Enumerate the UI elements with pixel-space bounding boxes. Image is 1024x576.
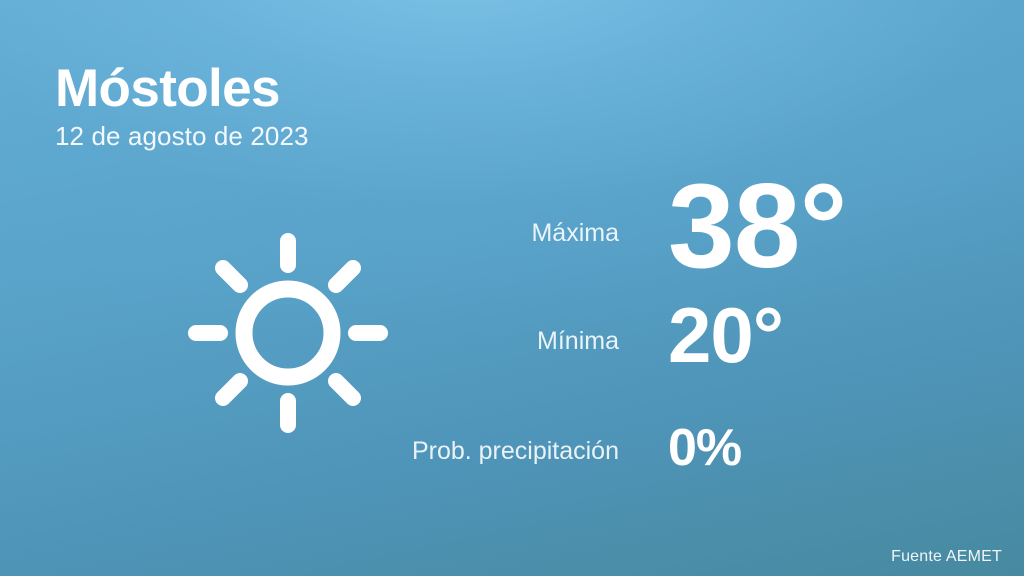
forecast-row-min: Mínima 20° [380,296,980,422]
min-temp-label: Mínima [380,329,668,354]
city-name: Móstoles [55,62,309,116]
sun-icon [178,223,398,443]
precipitation-label: Prob. precipitación [380,439,668,464]
precipitation-value: 0% [668,422,980,474]
max-temp-value: 38° [668,166,980,286]
forecast-date: 12 de agosto de 2023 [55,122,309,151]
max-temp-label: Máxima [380,221,668,246]
card-header: Móstoles 12 de agosto de 2023 [55,62,309,151]
data-source-credit: Fuente AEMET [891,548,1002,566]
min-temp-value: 20° [668,296,980,374]
forecast-row-precipitation: Prob. precipitación 0% [380,422,980,512]
weather-card: Móstoles 12 de agosto de 2023 [0,0,1024,576]
forecast-row-max: Máxima 38° [380,166,980,296]
forecast-list: Máxima 38° Mínima 20° Prob. precipitació… [380,166,980,512]
